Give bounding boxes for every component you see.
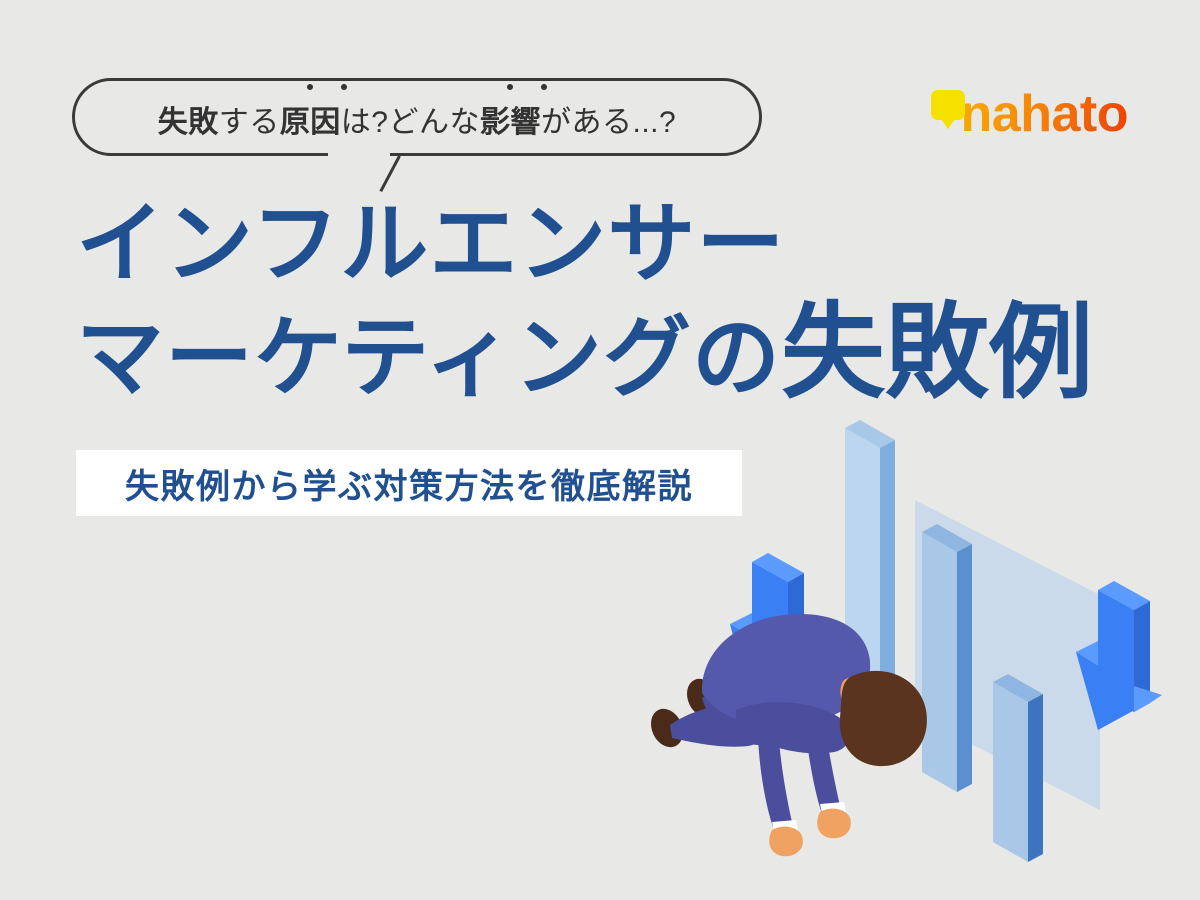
bar-medium-shape (922, 524, 972, 792)
kicker-seg-5: 影響 (480, 97, 541, 141)
kicker-seg-1: する (219, 97, 280, 141)
kicker-seg-3: は? (341, 97, 389, 141)
kicker-text: 失敗する原因は? どんな影響がある...? (158, 97, 676, 141)
speech-bubble-icon (931, 90, 965, 120)
page-title: インフルエンサー マーケティングの失敗例 (76, 196, 1093, 409)
bar-short-dark-shape (993, 674, 1043, 862)
kicker-seg-2: 原因 (280, 97, 341, 141)
banner-root: nahato 失敗する原因は? どんな影響がある...? インフルエンサー マー… (0, 0, 1200, 900)
subtitle-text: 失敗例から学ぶ対策方法を徹底解説 (125, 459, 693, 508)
speech-bubble-notch (328, 150, 390, 160)
kicker-speech-bubble: 失敗する原因は? どんな影響がある...? (72, 78, 762, 156)
kicker-seg-6: がある...? (541, 97, 676, 141)
kicker-seg-0: 失敗 (158, 97, 219, 141)
headline-line-2: マーケティングの失敗例 (76, 297, 1093, 409)
headline-line-2-normal: マーケティングの (76, 308, 781, 407)
speech-bubble-tail (379, 155, 400, 192)
headline-emphasis: 失敗例 (781, 295, 1093, 411)
kicker-seg-4: どんな (388, 97, 480, 141)
headline-line-1: インフルエンサー (76, 196, 1093, 291)
brand-logo-text: nahato (961, 88, 1128, 140)
hero-illustration (640, 410, 1200, 900)
brand-logo[interactable]: nahato (931, 64, 1128, 140)
